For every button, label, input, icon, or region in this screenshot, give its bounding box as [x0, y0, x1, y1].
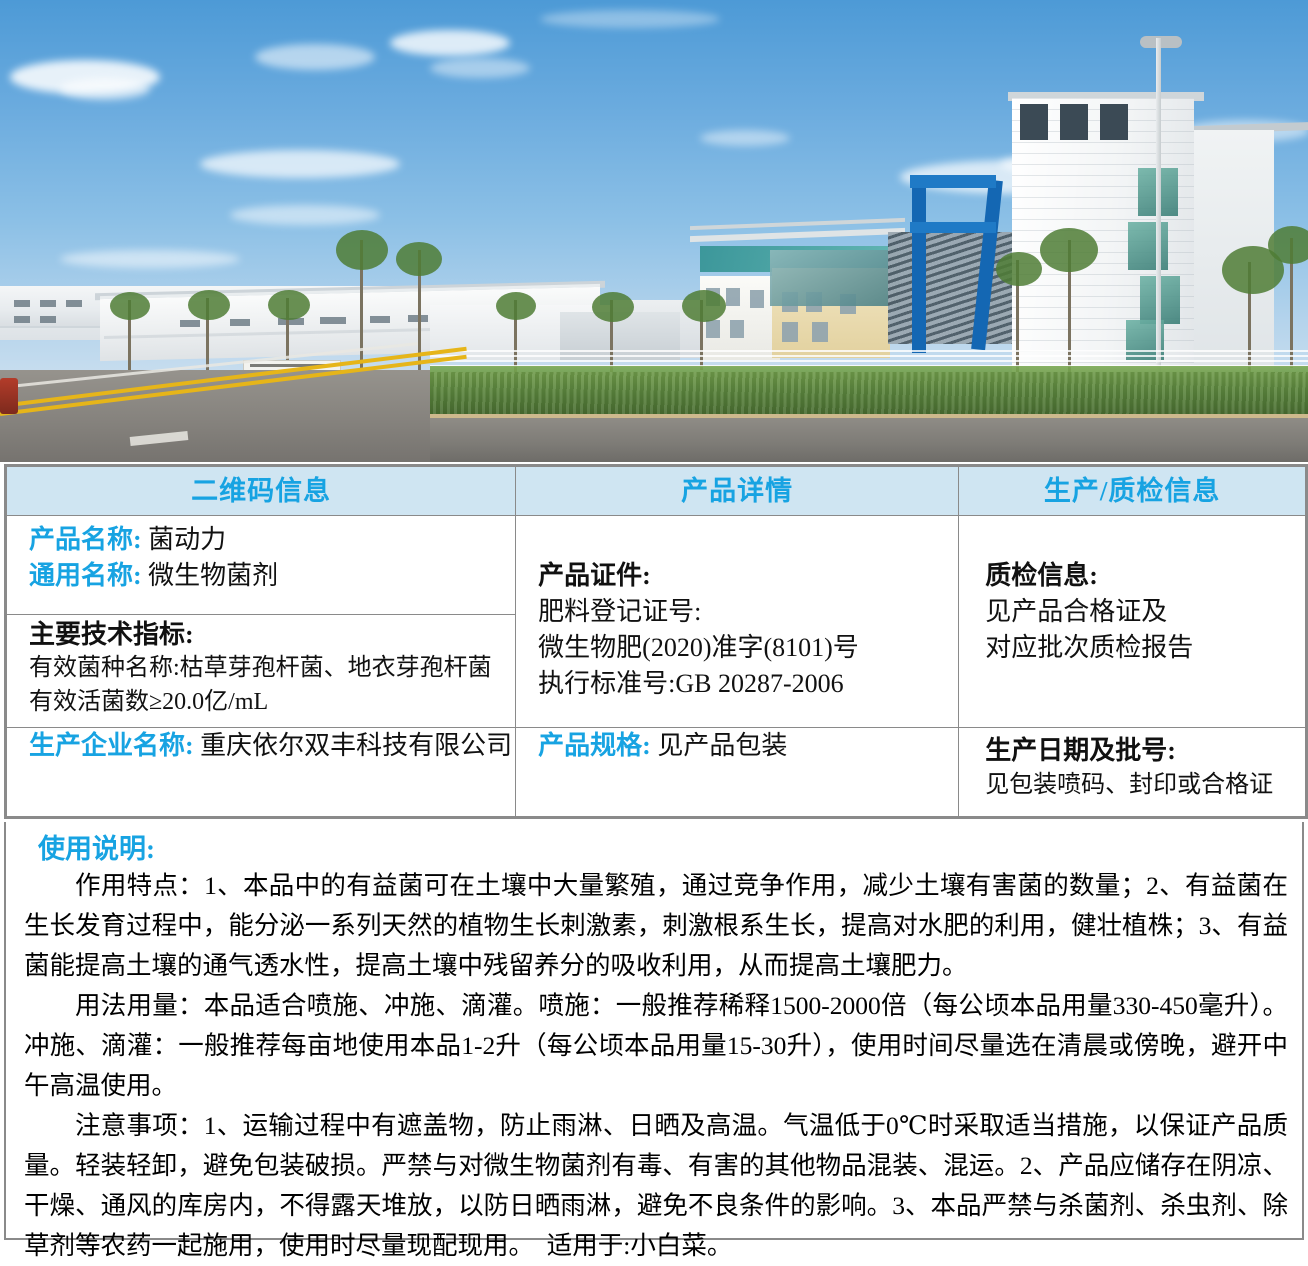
metal-louver-screen [888, 232, 1020, 344]
header-qrcode-info: 二维码信息 [7, 467, 516, 516]
cell-product-certificate: 产品证件: 肥料登记证号: 微生物肥(2020)准字(8101)号 执行标准号:… [516, 516, 959, 728]
glass-band [770, 250, 900, 306]
tree-foliage [268, 290, 310, 320]
tree-foliage [188, 290, 230, 320]
street-lamp-pole [1156, 38, 1161, 398]
usage-paragraph-cautions: 注意事项：1、运输过程中有遮盖物，防止雨淋、日晒及高温。气温低于0℃时采取适当措… [24, 1106, 1288, 1266]
window [14, 316, 30, 323]
window [370, 316, 390, 323]
factory-photo [0, 0, 1308, 462]
tree-foliage [1040, 228, 1098, 272]
window [180, 320, 200, 327]
usage-instructions-panel: 使用说明: 作用特点：1、本品中的有益菌可在土壤中大量繁殖，通过竞争作用，减少土… [4, 822, 1304, 1240]
cloud [390, 30, 510, 56]
tree-foliage [682, 290, 726, 322]
common-name-line: 通用名称: 微生物菌剂 [29, 558, 501, 594]
certificate-line-2: 微生物肥(2020)准字(8101)号 [538, 630, 944, 666]
manufacturer-label: 生产企业名称: [29, 731, 194, 760]
technical-index-line-1: 有效菌种名称:枯草芽孢杆菌、地衣芽孢杆菌 [29, 651, 501, 685]
technical-index-line-2: 有效活菌数≥20.0亿/mL [29, 685, 501, 719]
window [782, 322, 798, 342]
product-name-label: 产品名称: [29, 525, 142, 554]
cell-production-date: 生产日期及批号: 见包装喷码、封印或合格证 [959, 728, 1306, 817]
roof-opening [1020, 104, 1048, 140]
production-date-value: 见包装喷码、封印或合格证 [985, 768, 1291, 802]
manufacturer-value: 重庆依尔双丰科技有限公司 [200, 731, 512, 760]
window [730, 320, 744, 338]
table-header-row: 二维码信息 产品详情 生产/质检信息 [7, 467, 1306, 516]
road-surface-left [0, 370, 430, 462]
product-spec-line: 产品规格: 见产品包装 [538, 728, 944, 764]
cloud [200, 150, 400, 178]
blue-steel-beam [910, 175, 996, 188]
certificate-line-1: 肥料登记证号: [538, 594, 944, 630]
header-product-detail: 产品详情 [516, 467, 959, 516]
table-row: 产品名称: 菌动力 通用名称: 微生物菌剂 产品证件: 肥料登记证号: [7, 516, 1306, 615]
cloud [540, 10, 720, 28]
product-label-page: 二维码信息 产品详情 生产/质检信息 产品名称: 菌动力 通用名称: 微生物菌剂 [0, 0, 1308, 1244]
blue-steel-beam [910, 222, 996, 233]
product-name-value: 菌动力 [148, 525, 226, 554]
header-production-qc-info: 生产/质检信息 [959, 467, 1306, 516]
window [230, 319, 250, 326]
window [812, 322, 828, 342]
blue-steel-column [912, 175, 926, 353]
cloud [430, 58, 530, 78]
cloud [60, 250, 240, 268]
tree-foliage [496, 292, 536, 320]
tree-foliage [396, 242, 442, 276]
production-date-label: 生产日期及批号: [985, 734, 1291, 768]
product-spec-value: 见产品包装 [657, 731, 787, 760]
window [40, 316, 56, 323]
table-row: 生产企业名称: 重庆依尔双丰科技有限公司 产品规格: 见产品包装 [7, 728, 1306, 817]
roof-opening [1100, 104, 1128, 140]
cloud [230, 205, 380, 225]
certificate-label: 产品证件: [538, 558, 944, 594]
manufacturer-line: 生产企业名称: 重庆依尔双丰科技有限公司 [29, 728, 501, 764]
product-spec-label: 产品规格: [538, 731, 651, 760]
green-glass-window [1128, 222, 1168, 270]
cloud [255, 44, 375, 70]
info-table: 二维码信息 产品详情 生产/质检信息 产品名称: 菌动力 通用名称: 微生物菌剂 [4, 464, 1308, 819]
cloud [60, 78, 150, 100]
tree-foliage [336, 230, 388, 270]
cell-product-spec: 产品规格: 见产品包装 [516, 728, 959, 817]
qc-line-1: 见产品合格证及 [985, 594, 1291, 630]
usage-paragraph-dosage: 用法用量：本品适合喷施、冲施、滴灌。喷施：一般推荐稀释1500-2000倍（每公… [24, 986, 1288, 1106]
roof-opening [1060, 104, 1088, 140]
product-name-line: 产品名称: 菌动力 [29, 522, 501, 558]
usage-paragraph-effects: 作用特点：1、本品中的有益菌可在土壤中大量繁殖，通过竞争作用，减少土壤有害菌的数… [24, 866, 1288, 986]
common-name-label: 通用名称: [29, 561, 142, 590]
common-name-value: 微生物菌剂 [148, 561, 278, 590]
qc-line-2: 对应批次质检报告 [985, 630, 1291, 666]
cell-product-name: 产品名称: 菌动力 通用名称: 微生物菌剂 [7, 516, 516, 615]
window [40, 300, 56, 307]
technical-index-label: 主要技术指标: [29, 619, 501, 651]
tree-foliage [110, 292, 150, 320]
usage-title: 使用说明: [24, 832, 1288, 866]
cell-manufacturer: 生产企业名称: 重庆依尔双丰科技有限公司 [7, 728, 516, 817]
window [750, 290, 764, 308]
certificate-line-3: 执行标准号:GB 20287-2006 [538, 666, 944, 702]
tree-foliage [1268, 226, 1308, 264]
window [66, 300, 82, 307]
cell-technical-index: 主要技术指标: 有效菌种名称:枯草芽孢杆菌、地衣芽孢杆菌 有效活菌数≥20.0亿… [7, 615, 516, 728]
cloud [700, 130, 790, 146]
window [706, 320, 720, 338]
window [14, 300, 30, 307]
window [320, 317, 346, 324]
vehicle [0, 378, 18, 414]
cell-qc-info: 质检信息: 见产品合格证及 对应批次质检报告 [959, 516, 1306, 728]
window [726, 288, 740, 306]
tree-foliage [592, 292, 634, 322]
street-lamp-head [1140, 36, 1182, 48]
qc-label: 质检信息: [985, 558, 1291, 594]
tree-foliage [996, 252, 1042, 286]
